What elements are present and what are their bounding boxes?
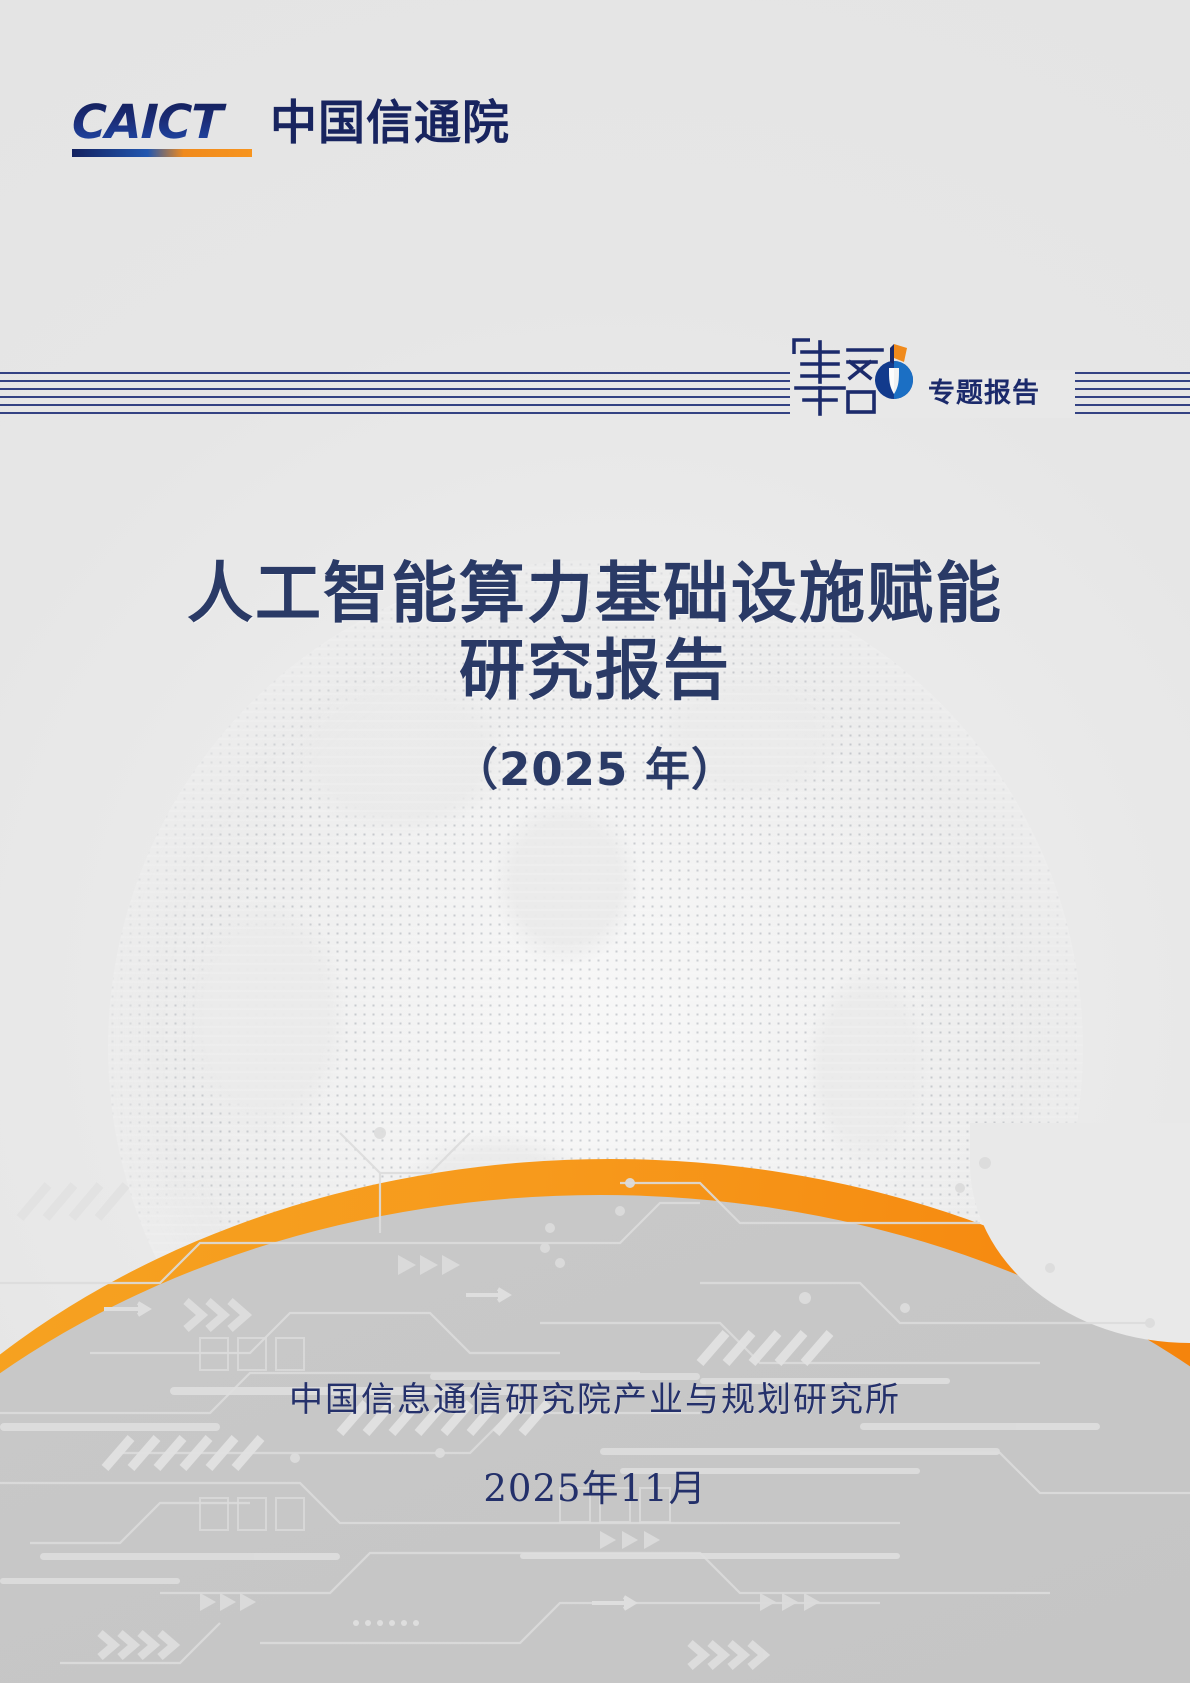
caict-logo: CAICT 中国信通院 [72, 100, 510, 157]
organization-name: 中国信息通信研究院产业与规划研究所 [0, 1372, 1190, 1421]
logo-acronym: CAICT [71, 100, 253, 145]
jizhi-logo-icon [790, 336, 918, 416]
striped-divider-band: 专题报告 [0, 372, 1190, 414]
logo-gradient-bar-icon [72, 149, 252, 157]
title-year: （2025 年） [0, 733, 1190, 798]
title-line-2: 研究报告 [0, 633, 1190, 710]
publication-date: 2025年11月 [0, 1458, 1190, 1512]
series-badge-label: 专题报告 [928, 371, 1040, 416]
logo-mark: CAICT [72, 100, 252, 157]
title-line-1: 人工智能算力基础设施赋能 [0, 556, 1190, 633]
cover-title-block: 人工智能算力基础设施赋能 研究报告 （2025 年） [0, 556, 1190, 798]
logo-name-chinese: 中国信通院 [270, 100, 510, 157]
report-cover-page: CAICT 中国信通院 [0, 0, 1190, 1683]
series-badge: 专题报告 [790, 334, 1075, 416]
